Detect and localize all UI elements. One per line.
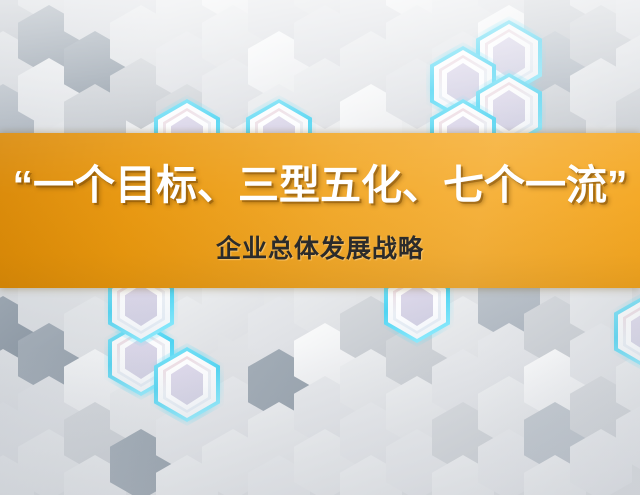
banner-sheen xyxy=(0,133,640,288)
page-title: “一个目标、三型五化、七个一流” xyxy=(0,165,640,206)
slide-canvas: “一个目标、三型五化、七个一流” 企业总体发展战略 xyxy=(0,0,640,495)
title-banner: “一个目标、三型五化、七个一流” 企业总体发展战略 xyxy=(0,133,640,288)
page-subtitle: 企业总体发展战略 xyxy=(0,237,640,262)
